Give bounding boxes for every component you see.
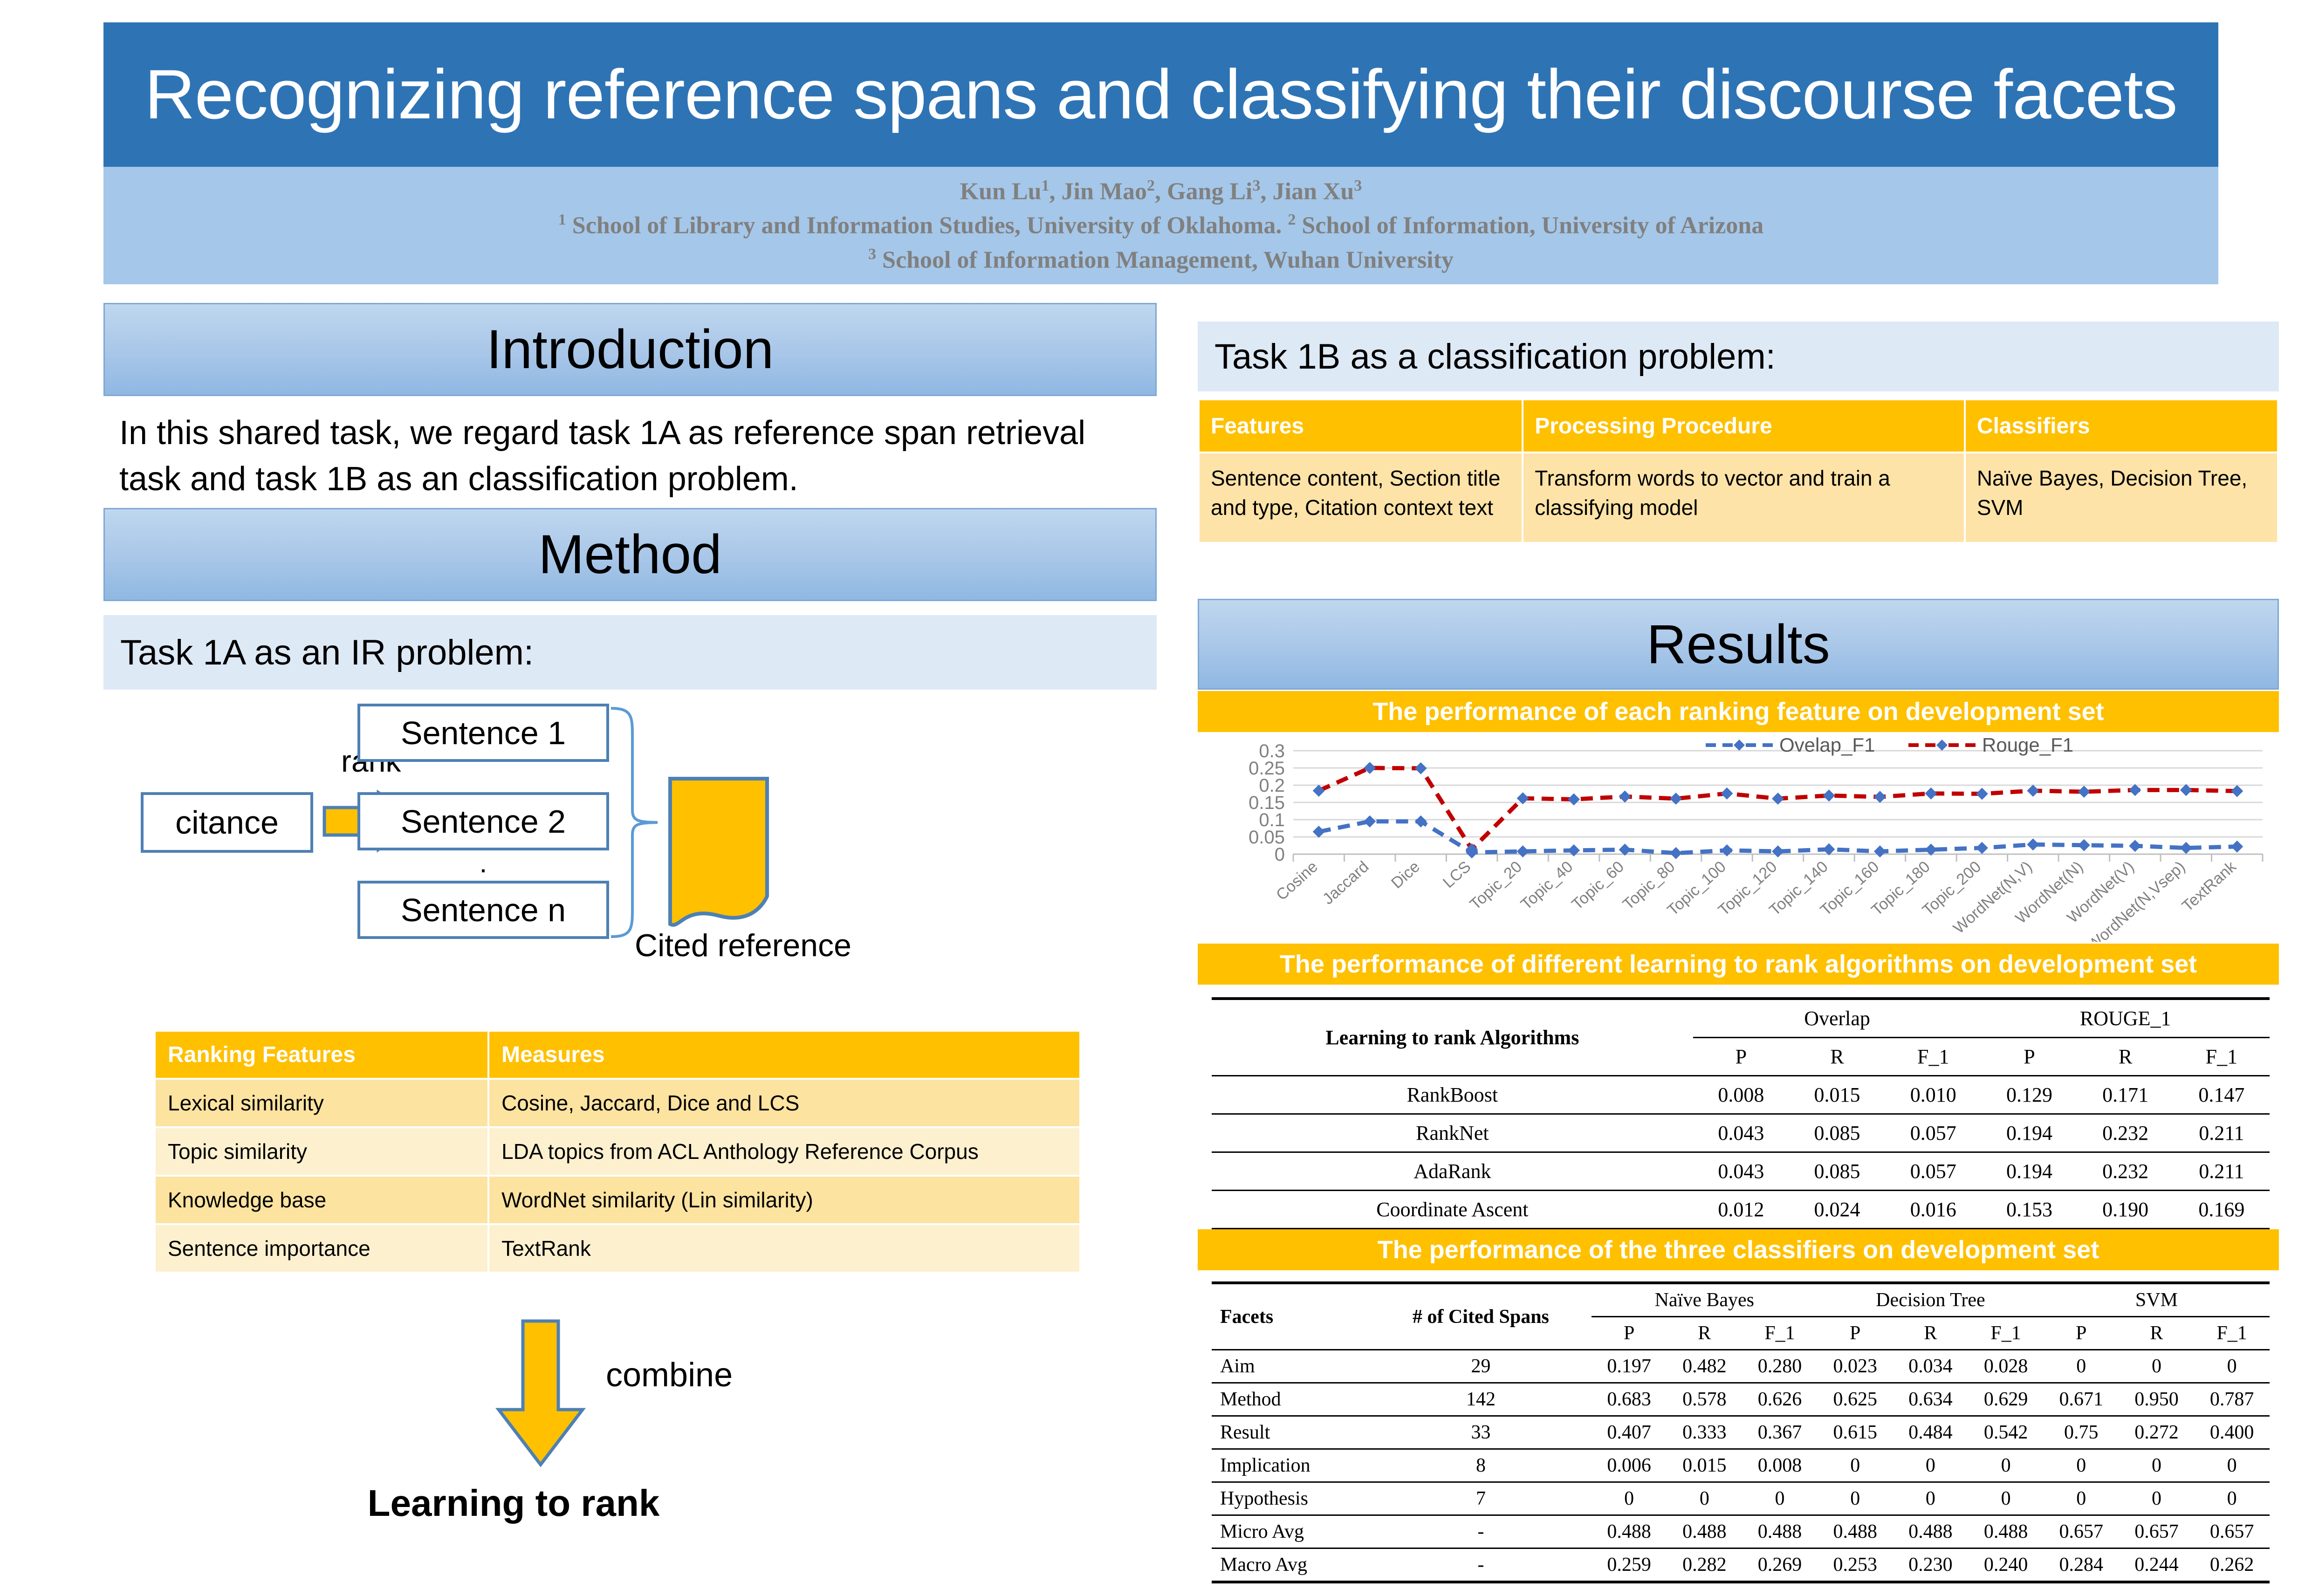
metric-value: 0.211 <box>2174 1152 2270 1191</box>
col-header-metric-7: R <box>2119 1317 2195 1350</box>
metric-value: 0.253 <box>1818 1548 1893 1582</box>
col-header-ranking-features: Ranking Features <box>156 1032 487 1078</box>
table-row: Topic similarity LDA topics from ACL Ant… <box>156 1128 1079 1175</box>
data-point-marker <box>2078 786 2090 798</box>
metric-value: 0.230 <box>1893 1548 1969 1582</box>
data-point-marker <box>1823 789 1835 801</box>
metric-value: 0.006 <box>1592 1449 1667 1482</box>
data-point-marker <box>1313 826 1325 838</box>
introduction-heading: Introduction <box>487 318 774 381</box>
cited-reference-document-icon <box>667 776 770 930</box>
metric-value: 0.016 <box>1885 1191 1981 1230</box>
metric-value: 0.787 <box>2194 1383 2270 1416</box>
cited-spans-count: - <box>1370 1515 1592 1548</box>
data-point-marker <box>1772 845 1784 857</box>
curly-brace-icon <box>609 704 660 941</box>
data-point-marker <box>1925 788 1937 800</box>
down-arrow-icon <box>494 1319 587 1468</box>
metric-value: 0 <box>1893 1449 1969 1482</box>
metric-value: 0.488 <box>1742 1515 1818 1548</box>
col-header-classifiers: Classifiers <box>1966 400 2277 452</box>
col-header-metric-1: R <box>1667 1317 1742 1350</box>
data-point-marker <box>2027 785 2039 797</box>
metric-value: 0.043 <box>1693 1152 1789 1191</box>
group-header-decision-tree: Decision Tree <box>1818 1283 2044 1317</box>
x-tick-label: LCS <box>1440 858 1475 891</box>
metric-value: 0 <box>1818 1482 1893 1515</box>
metric-value: 0.626 <box>1742 1383 1818 1416</box>
x-tick-label-group: Topic_20 <box>1466 858 1525 913</box>
metric-value: 0.269 <box>1742 1548 1818 1582</box>
cited-spans-count: 33 <box>1370 1416 1592 1449</box>
metric-value: 0.284 <box>2044 1548 2119 1582</box>
metric-value: 0.028 <box>1968 1350 2044 1383</box>
x-tick-label: Topic_20 <box>1466 858 1525 913</box>
algorithm-name: RankBoost <box>1212 1076 1693 1114</box>
table-row: Lexical similarity Cosine, Jaccard, Dice… <box>156 1080 1079 1126</box>
table-row: Knowledge base WordNet similarity (Lin s… <box>156 1177 1079 1223</box>
metric-value: 0.615 <box>1818 1416 1893 1449</box>
facet-name: Aim <box>1212 1350 1370 1383</box>
caption-clf-table: The performance of the three classifiers… <box>1198 1229 2279 1270</box>
data-point-marker <box>1568 793 1580 805</box>
learning-to-rank-label: Learning to rank <box>103 1482 924 1525</box>
cited-spans-count: 29 <box>1370 1350 1592 1383</box>
metric-value: 0 <box>2119 1482 2195 1515</box>
metric-value: 0 <box>2044 1350 2119 1383</box>
data-point-marker <box>2231 841 2243 853</box>
data-point-marker <box>2027 838 2039 850</box>
metric-value: 0.085 <box>1789 1152 1885 1191</box>
metric-value: 0.211 <box>2174 1114 2270 1152</box>
metric-value: 0.657 <box>2044 1515 2119 1548</box>
metric-value: 0 <box>2044 1482 2119 1515</box>
diagram-cited-reference-label: Cited reference <box>635 927 851 964</box>
metric-value: 0.272 <box>2119 1416 2195 1449</box>
metric-value: 0.488 <box>1592 1515 1667 1548</box>
metric-value: 0.634 <box>1893 1383 1969 1416</box>
cited-spans-count: 7 <box>1370 1482 1592 1515</box>
metric-value: 0.244 <box>2119 1548 2195 1582</box>
table-header-row: Facets # of Cited Spans Naïve Bayes Deci… <box>1212 1283 2270 1317</box>
introduction-body: In this shared task, we regard task 1A a… <box>119 410 1154 503</box>
metric-value: 0.232 <box>2078 1114 2174 1152</box>
subheading-task1a: Task 1A as an IR problem: <box>103 615 1157 690</box>
metric-value: 0 <box>1742 1482 1818 1515</box>
x-tick-label: Topic_60 <box>1568 858 1627 913</box>
metric-value: 0.75 <box>2044 1416 2119 1449</box>
diagram-node-sentence-1: Sentence 1 <box>357 704 609 762</box>
metric-value: 0.671 <box>2044 1383 2119 1416</box>
metric-value: 0 <box>2194 1350 2270 1383</box>
group-header-overlap: Overlap <box>1693 999 1982 1038</box>
facet-name: Macro Avg <box>1212 1548 1370 1582</box>
col-header-measures: Measures <box>489 1032 1079 1078</box>
table-row: RankNet0.0430.0850.0570.1940.2320.211 <box>1212 1114 2270 1152</box>
table-row: Aim290.1970.4820.2800.0230.0340.028000 <box>1212 1350 2270 1383</box>
data-point-marker <box>1313 785 1325 797</box>
table-row: Micro Avg-0.4880.4880.4880.4880.4880.488… <box>1212 1515 2270 1548</box>
metric-value: 0 <box>2194 1482 2270 1515</box>
table-row: Macro Avg-0.2590.2820.2690.2530.2300.240… <box>1212 1548 2270 1582</box>
data-point-marker <box>2231 785 2243 797</box>
metric-value: 0 <box>2119 1449 2195 1482</box>
metric-value: 0.629 <box>1968 1383 2044 1416</box>
metric-value: 0.407 <box>1592 1416 1667 1449</box>
task1a-diagram: citance rank Sentence 1 Sentence 2 ... S… <box>103 694 1175 1011</box>
metric-value: 0.657 <box>2194 1515 2270 1548</box>
x-tick-label-group: Topic_40 <box>1517 858 1577 913</box>
table-row: RankBoost0.0080.0150.0100.1290.1710.147 <box>1212 1076 2270 1114</box>
metric-value: 0.169 <box>2174 1191 2270 1230</box>
metric-value: 0.194 <box>1981 1152 2077 1191</box>
x-tick-label: TextRank <box>2179 857 2240 915</box>
table-row: Hypothesis7000000000 <box>1212 1482 2270 1515</box>
results-heading: Results <box>1647 613 1830 676</box>
data-point-marker <box>1517 845 1529 857</box>
x-tick-label: Dice <box>1388 858 1423 892</box>
task1b-classification-table: Features Processing Procedure Classifier… <box>1198 398 2279 544</box>
data-point-marker <box>1364 762 1376 774</box>
col-header-metric-4: R <box>1893 1317 1969 1350</box>
table-row: Sentence importance TextRank <box>156 1225 1079 1272</box>
col-header-algorithms: Learning to rank Algorithms <box>1212 999 1693 1076</box>
metric-value: 0 <box>1968 1482 2044 1515</box>
col-header-metric-2: F_1 <box>1742 1317 1818 1350</box>
metric-value: 0.262 <box>2194 1548 2270 1582</box>
col-header-metric-8: F_1 <box>2194 1317 2270 1350</box>
data-point-marker <box>2078 839 2090 851</box>
metric-value: 0.367 <box>1742 1416 1818 1449</box>
metric-value: 0.197 <box>1592 1350 1667 1383</box>
col-header-overlap-r: R <box>1789 1038 1885 1076</box>
ranking-features-table: Ranking Features Measures Lexical simila… <box>154 1030 1081 1274</box>
chart-canvas: 00.050.10.150.20.250.3CosineJaccardDiceL… <box>1198 732 2279 942</box>
metric-value: 0 <box>1667 1482 1742 1515</box>
metric-value: 0.034 <box>1893 1350 1969 1383</box>
col-header-metric-6: P <box>2044 1317 2119 1350</box>
data-point-marker <box>1670 847 1682 859</box>
col-header-metric-3: P <box>1818 1317 1893 1350</box>
diagram-node-sentence-n: Sentence n <box>357 881 609 939</box>
group-header-svm: SVM <box>2044 1283 2270 1317</box>
metric-value: 0.057 <box>1885 1152 1981 1191</box>
author-block: Kun Lu1, Jin Mao2, Gang Li3, Jian Xu3 1 … <box>103 167 2218 284</box>
metric-value: 0.015 <box>1789 1076 1885 1114</box>
metric-value: 0.153 <box>1981 1191 2077 1230</box>
metric-value: 0.194 <box>1981 1114 2077 1152</box>
diagram-node-sentence-2: Sentence 2 <box>357 792 609 850</box>
data-point-marker <box>1874 791 1886 803</box>
data-point-marker <box>2180 842 2192 854</box>
data-point-marker <box>1976 788 1988 800</box>
metric-value: 0 <box>2194 1449 2270 1482</box>
metric-value: 0.400 <box>2194 1416 2270 1449</box>
facet-name: Implication <box>1212 1449 1370 1482</box>
diagram-node-citance: citance <box>141 792 313 853</box>
facet-name: Micro Avg <box>1212 1515 1370 1548</box>
metric-value: 0.043 <box>1693 1114 1789 1152</box>
metric-value: 0.542 <box>1968 1416 2044 1449</box>
col-header-overlap-f1: F_1 <box>1885 1038 1981 1076</box>
facet-name: Result <box>1212 1416 1370 1449</box>
data-point-marker <box>2129 840 2141 852</box>
metric-value: 0.657 <box>2119 1515 2195 1548</box>
caption-chart: The performance of each ranking feature … <box>1198 691 2279 732</box>
metric-value: 0 <box>1818 1449 1893 1482</box>
metric-value: 0.012 <box>1693 1191 1789 1230</box>
table-header-row: Learning to rank Algorithms Overlap ROUG… <box>1212 999 2270 1038</box>
table-header-row: Features Processing Procedure Classifier… <box>1200 400 2277 452</box>
metric-value: 0.488 <box>1667 1515 1742 1548</box>
x-tick-label-group: Topic_60 <box>1568 858 1627 913</box>
col-header-metric-5: F_1 <box>1968 1317 2044 1350</box>
table-header-row: Ranking Features Measures <box>156 1032 1079 1078</box>
algorithm-name: RankNet <box>1212 1114 1693 1152</box>
metric-value: 0.232 <box>2078 1152 2174 1191</box>
metric-value: 0.240 <box>1968 1548 2044 1582</box>
data-point-marker <box>1976 842 1988 854</box>
affiliation-line-1: 1 School of Library and Information Stud… <box>558 210 1763 240</box>
table-row: Method1420.6830.5780.6260.6250.6340.6290… <box>1212 1383 2270 1416</box>
metric-value: 0.950 <box>2119 1383 2195 1416</box>
algorithm-name: AdaRank <box>1212 1152 1693 1191</box>
col-header-processing-procedure: Processing Procedure <box>1523 400 1964 452</box>
legend-label: Ovelap_F1 <box>1779 734 1875 756</box>
data-point-marker <box>1619 790 1631 802</box>
col-header-overlap-p: P <box>1693 1038 1789 1076</box>
group-header-rouge1: ROUGE_1 <box>1981 999 2270 1038</box>
metric-value: 0.190 <box>2078 1191 2174 1230</box>
cited-spans-count: 142 <box>1370 1383 1592 1416</box>
x-tick-label-group: LCS <box>1440 858 1475 891</box>
table-row: AdaRank0.0430.0850.0570.1940.2320.211 <box>1212 1152 2270 1191</box>
col-header-features: Features <box>1200 400 1522 452</box>
col-header-rouge-p: P <box>1981 1038 2077 1076</box>
section-banner-method: Method <box>103 508 1157 601</box>
metric-value: 0 <box>1968 1449 2044 1482</box>
col-header-metric-0: P <box>1592 1317 1667 1350</box>
classifier-results-table: Facets # of Cited Spans Naïve Bayes Deci… <box>1212 1281 2270 1583</box>
metric-value: 0 <box>1893 1482 1969 1515</box>
metric-value: 0.488 <box>1893 1515 1969 1548</box>
metric-value: 0.015 <box>1667 1449 1742 1482</box>
metric-value: 0.333 <box>1667 1416 1742 1449</box>
metric-value: 0.057 <box>1885 1114 1981 1152</box>
poster-title-bar: Recognizing reference spans and classify… <box>103 22 2218 167</box>
page-title: Recognizing reference spans and classify… <box>126 58 2195 131</box>
x-tick-label: Topic_40 <box>1517 858 1577 913</box>
learning-to-rank-results-table: Learning to rank Algorithms Overlap ROUG… <box>1212 997 2270 1231</box>
metric-value: 0.024 <box>1789 1191 1885 1230</box>
author-names: Kun Lu1, Jin Mao2, Gang Li3, Jian Xu3 <box>960 176 1362 206</box>
metric-value: 0.008 <box>1693 1076 1789 1114</box>
section-banner-introduction: Introduction <box>103 303 1157 396</box>
chart-legend: Ovelap_F1Rouge_F1 <box>1706 734 2073 756</box>
method-heading: Method <box>538 523 722 586</box>
metric-value: 0 <box>1592 1482 1667 1515</box>
metric-value: 0.259 <box>1592 1548 1667 1582</box>
metric-value: 0.683 <box>1592 1383 1667 1416</box>
metric-value: 0.171 <box>2078 1076 2174 1114</box>
metric-value: 0.129 <box>1981 1076 2077 1114</box>
metric-value: 0.085 <box>1789 1114 1885 1152</box>
metric-value: 0.282 <box>1667 1548 1742 1582</box>
y-tick-label: 0.3 <box>1259 741 1285 761</box>
x-tick-label-group: Dice <box>1388 858 1423 892</box>
legend-label: Rouge_F1 <box>1982 734 2073 756</box>
combine-label: combine <box>606 1356 733 1394</box>
metric-value: 0.488 <box>1818 1515 1893 1548</box>
metric-value: 0.010 <box>1885 1076 1981 1114</box>
cited-spans-count: 8 <box>1370 1449 1592 1482</box>
table-row: Implication80.0060.0150.008000000 <box>1212 1449 2270 1482</box>
col-header-cited-spans: # of Cited Spans <box>1370 1283 1592 1350</box>
metric-value: 0.008 <box>1742 1449 1818 1482</box>
section-banner-results: Results <box>1198 599 2279 690</box>
col-header-rouge-r: R <box>2078 1038 2174 1076</box>
metric-value: 0.578 <box>1667 1383 1742 1416</box>
facet-name: Hypothesis <box>1212 1482 1370 1515</box>
metric-value: 0.488 <box>1968 1515 2044 1548</box>
metric-value: 0.482 <box>1667 1350 1742 1383</box>
ranking-feature-performance-chart: 00.050.10.150.20.250.3CosineJaccardDiceL… <box>1198 732 2279 942</box>
metric-value: 0.023 <box>1818 1350 1893 1383</box>
data-point-marker <box>1364 815 1376 828</box>
metric-value: 0 <box>2119 1350 2195 1383</box>
x-tick-label-group: TextRank <box>2179 857 2240 915</box>
facet-name: Method <box>1212 1383 1370 1416</box>
col-header-facets: Facets <box>1212 1283 1370 1350</box>
cited-spans-count: - <box>1370 1548 1592 1582</box>
col-header-rouge-f1: F_1 <box>2174 1038 2270 1076</box>
data-point-marker <box>1874 845 1886 857</box>
x-tick-label-group: Jaccard <box>1319 858 1372 908</box>
table-row: Result330.4070.3330.3670.6150.4840.5420.… <box>1212 1416 2270 1449</box>
x-tick-label: Jaccard <box>1319 858 1372 908</box>
metric-value: 0.625 <box>1818 1383 1893 1416</box>
affiliation-line-2: 3 School of Information Management, Wuha… <box>868 245 1454 275</box>
table-row: Coordinate Ascent0.0120.0240.0160.1530.1… <box>1212 1191 2270 1230</box>
data-point-marker <box>1415 762 1427 774</box>
subheading-task1b: Task 1B as a classification problem: <box>1198 322 2279 391</box>
algorithm-name: Coordinate Ascent <box>1212 1191 1693 1230</box>
metric-value: 0.280 <box>1742 1350 1818 1383</box>
caption-ltr-table: The performance of different learning to… <box>1198 944 2279 985</box>
table-row: Sentence content, Section title and type… <box>1200 453 2277 542</box>
metric-value: 0.147 <box>2174 1076 2270 1114</box>
metric-value: 0 <box>2044 1449 2119 1482</box>
data-point-marker <box>1721 788 1733 800</box>
metric-value: 0.484 <box>1893 1416 1969 1449</box>
group-header-naive-bayes: Naïve Bayes <box>1592 1283 1818 1317</box>
